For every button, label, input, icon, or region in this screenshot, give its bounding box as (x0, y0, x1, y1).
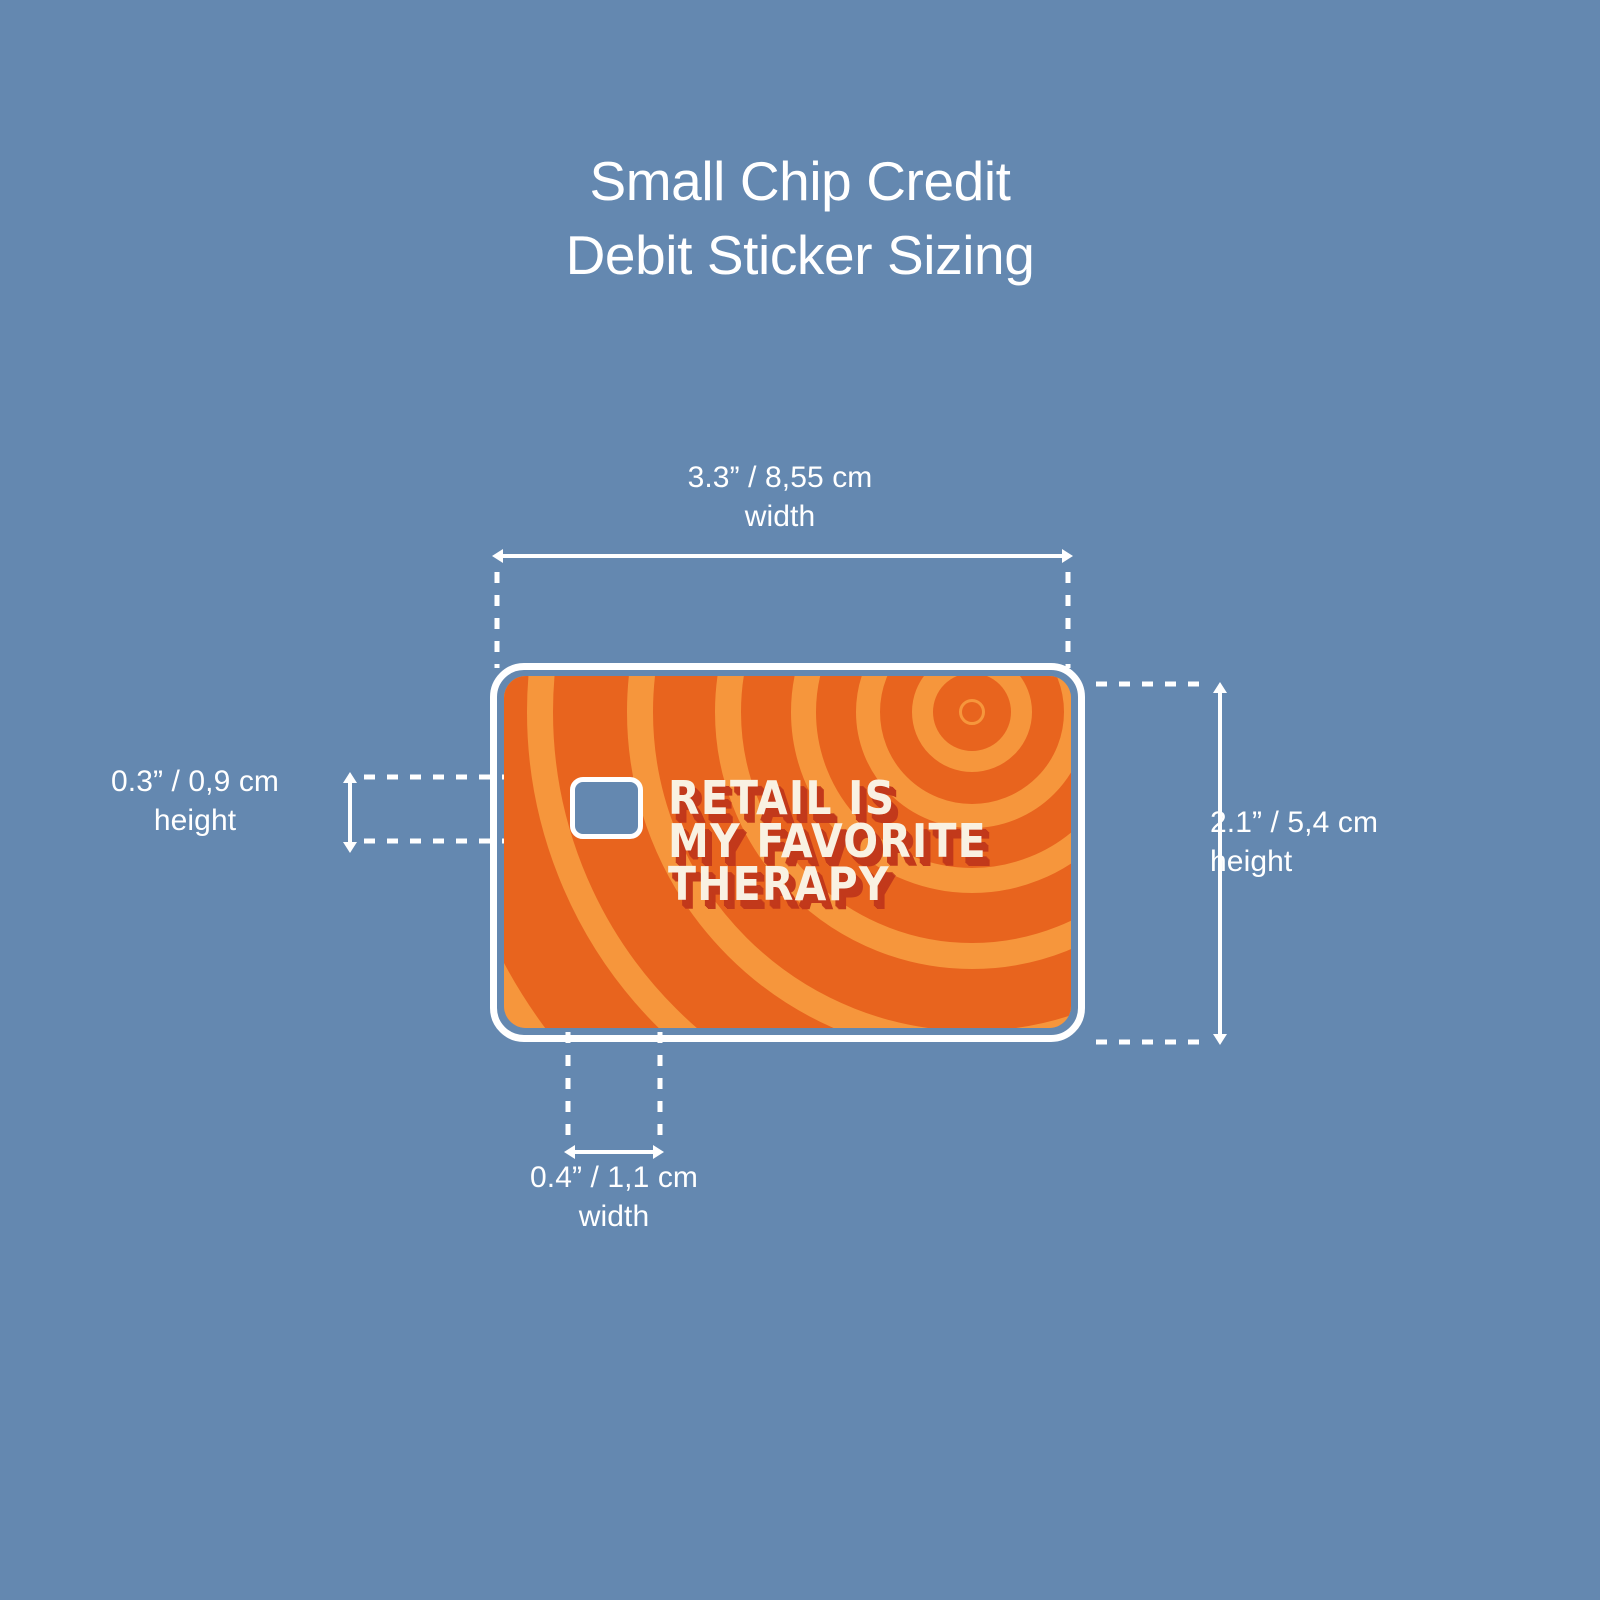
card-height-axis: height (1210, 842, 1540, 881)
guide-card-width (497, 556, 1068, 668)
dimension-label-chip-width: 0.4” / 1,1 cm width (424, 1158, 804, 1236)
dimension-label-card-height: 2.1” / 5,4 cm height (1210, 803, 1540, 881)
card-outline (490, 663, 1085, 1042)
sizing-diagram-canvas: Small Chip Credit Debit Sticker Sizing (0, 0, 1600, 1600)
card-height-value: 2.1” / 5,4 cm (1210, 806, 1378, 839)
card-width-value: 3.3” / 8,55 cm (688, 461, 873, 494)
page-title-line-1: Small Chip Credit (0, 144, 1600, 218)
dimension-label-card-width: 3.3” / 8,55 cm width (540, 458, 1020, 536)
page-title-line-2: Debit Sticker Sizing (0, 218, 1600, 292)
dimension-label-chip-height: 0.3” / 0,9 cm height (40, 762, 350, 840)
page-title: Small Chip Credit Debit Sticker Sizing (0, 144, 1600, 292)
chip-width-axis: width (424, 1197, 804, 1236)
chip-height-axis: height (40, 801, 350, 840)
chip-width-value: 0.4” / 1,1 cm (530, 1161, 698, 1194)
guide-card-height (1096, 684, 1220, 1042)
card-width-axis: width (540, 497, 1020, 536)
chip-cutout (570, 777, 643, 839)
chip-height-value: 0.3” / 0,9 cm (111, 765, 279, 798)
